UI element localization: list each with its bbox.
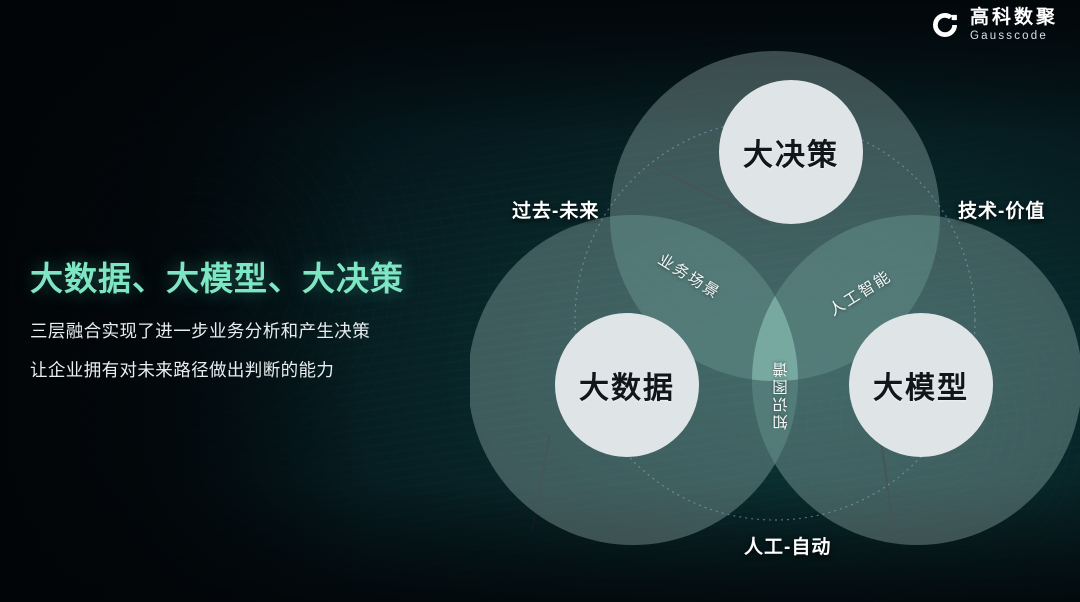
subheading-1: 三层融合实现了进一步业务分析和产生决策 bbox=[30, 318, 460, 343]
lens-label-knowledge-graph: 知识图谱 bbox=[771, 360, 793, 430]
core-label-bigmodel: 大模型 bbox=[873, 363, 969, 407]
venn-diagram: 大决策 大数据 大模型 业务场景 人工智能 知识图谱 bbox=[470, 0, 1080, 602]
slide-canvas: 高科数聚 Gausscode 大数据、大模型、大决策 三层融合实现了进一步业务分… bbox=[0, 0, 1080, 602]
core-label-decision: 大决策 bbox=[743, 130, 839, 174]
axis-label-tech-value: 技术-价值 bbox=[958, 196, 1045, 223]
venn-svg bbox=[470, 0, 1080, 602]
core-label-bigdata: 大数据 bbox=[579, 363, 675, 407]
page-title: 大数据、大模型、大决策 bbox=[30, 252, 460, 300]
subheading-2: 让企业拥有对未来路径做出判断的能力 bbox=[30, 357, 460, 382]
left-copy-block: 大数据、大模型、大决策 三层融合实现了进一步业务分析和产生决策 让企业拥有对未来… bbox=[30, 252, 460, 396]
axis-label-past-future: 过去-未来 bbox=[512, 196, 599, 223]
axis-label-manual-auto: 人工-自动 bbox=[744, 532, 831, 559]
